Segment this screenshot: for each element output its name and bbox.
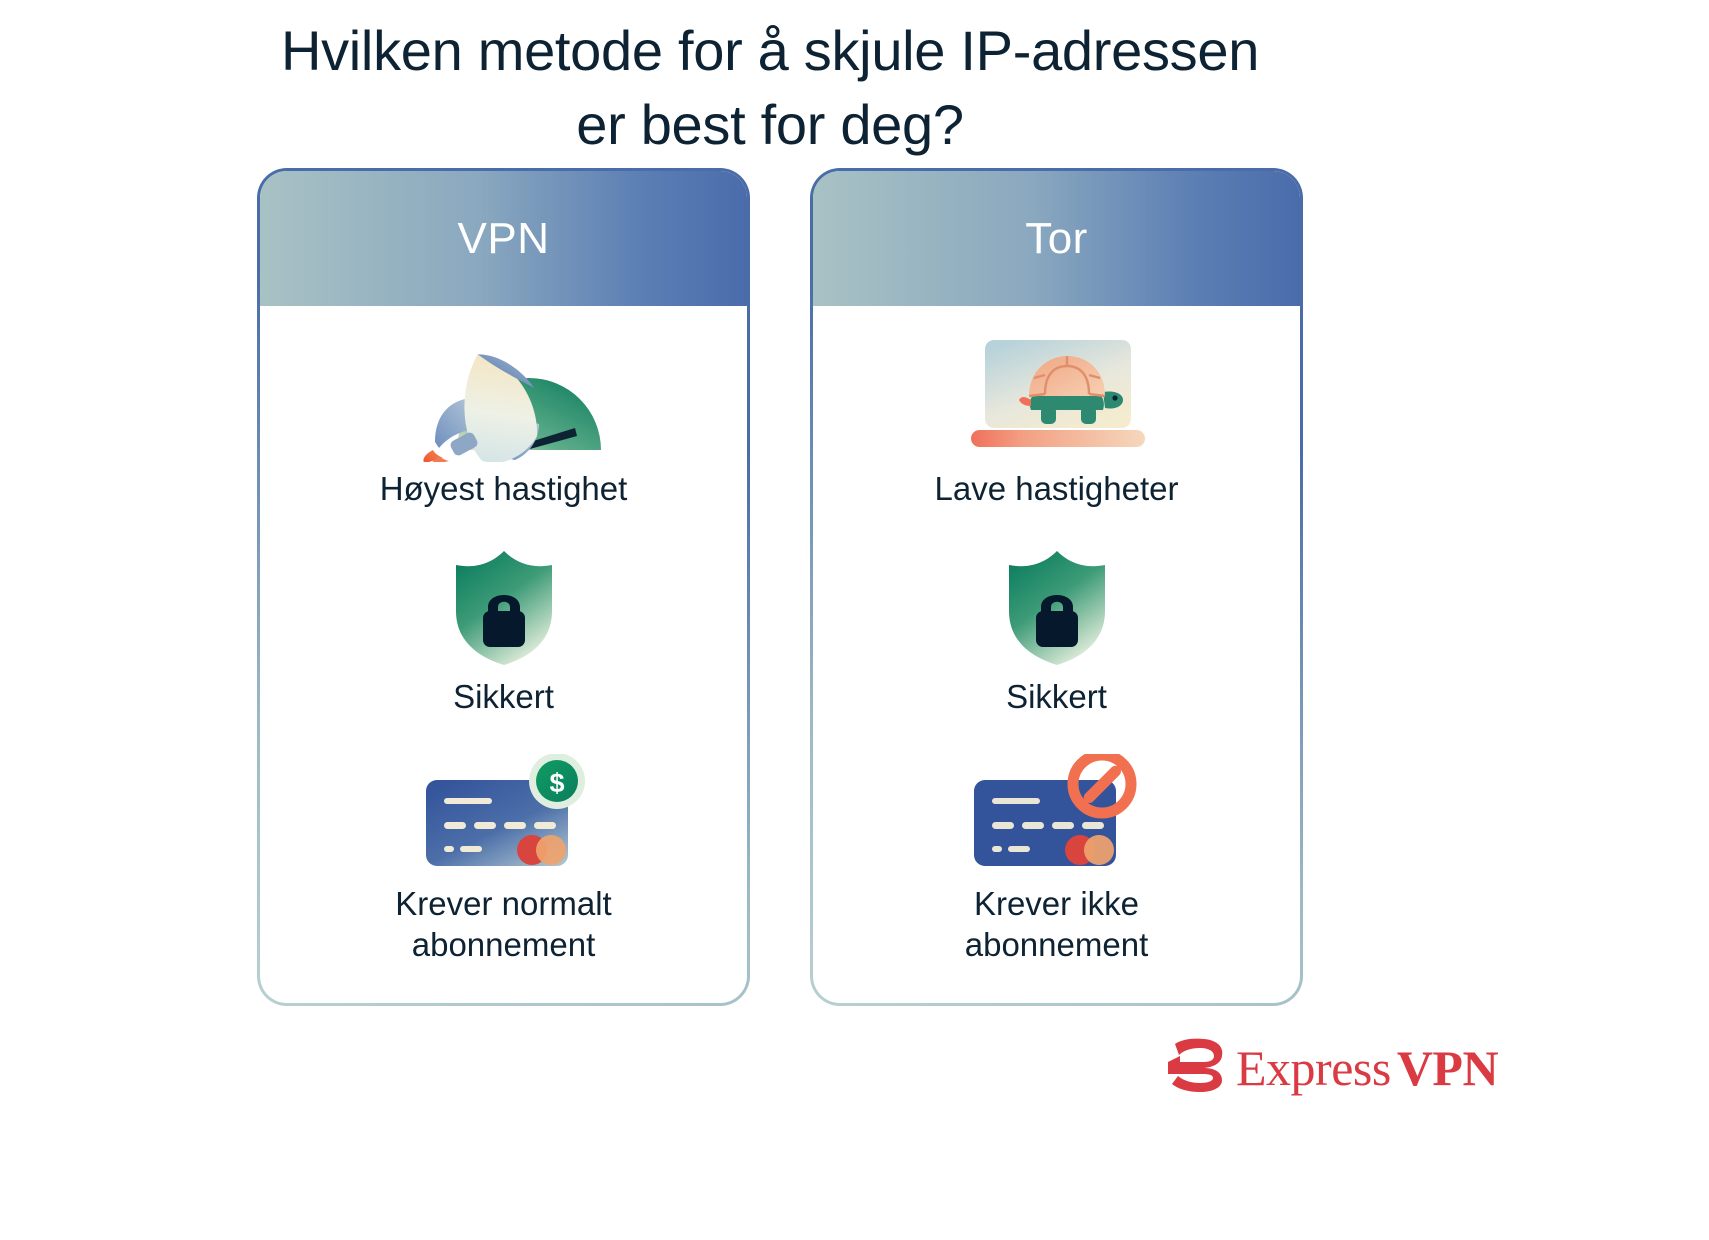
feature-security: Sikkert: [260, 545, 747, 717]
feature-speed: Høyest hastighet: [260, 332, 747, 509]
expressvpn-logo[interactable]: Express VPN: [1160, 1036, 1498, 1099]
card-body-vpn: Høyest hastighet: [260, 306, 747, 1003]
feature-subscription: $ Krever normalt abonnement: [260, 752, 747, 966]
svg-text:$: $: [549, 768, 564, 798]
turtle-laptop-icon: [957, 332, 1157, 462]
feature-security: Sikkert: [813, 545, 1300, 717]
comparison-card-vpn: VPN: [257, 168, 750, 1006]
card-header-vpn: VPN: [260, 171, 747, 306]
feature-label: Lave hastigheter: [934, 468, 1178, 509]
feature-label: Krever normalt abonnement: [395, 883, 611, 966]
page-title: Hvilken metode for å skjule IP-adressen …: [0, 14, 1540, 163]
feature-label: Sikkert: [453, 676, 554, 717]
brand-word-express: Express: [1236, 1039, 1391, 1097]
card-body-tor: Lave hastigheter: [813, 306, 1300, 1003]
feature-speed: Lave hastigheter: [813, 332, 1300, 509]
card-header-title: Tor: [1025, 214, 1088, 264]
credit-card-prohibited-icon: [962, 752, 1152, 877]
feature-label: Høyest hastighet: [380, 468, 628, 509]
card-header-title: VPN: [458, 214, 550, 264]
shield-lock-icon: [450, 545, 558, 670]
feature-label: Sikkert: [1006, 676, 1107, 717]
rocket-speedometer-icon: [399, 332, 609, 462]
brand-word-vpn: VPN: [1397, 1039, 1498, 1097]
feature-subscription: Krever ikke abonnement: [813, 752, 1300, 966]
feature-label: Krever ikke abonnement: [965, 883, 1148, 966]
card-header-tor: Tor: [813, 171, 1300, 306]
shield-lock-icon: [1003, 545, 1111, 670]
expressvpn-e-mark-icon: [1160, 1036, 1226, 1099]
comparison-cards-row: VPN: [257, 168, 1303, 1006]
comparison-card-tor: Tor: [810, 168, 1303, 1006]
credit-card-dollar-icon: $: [414, 752, 594, 877]
